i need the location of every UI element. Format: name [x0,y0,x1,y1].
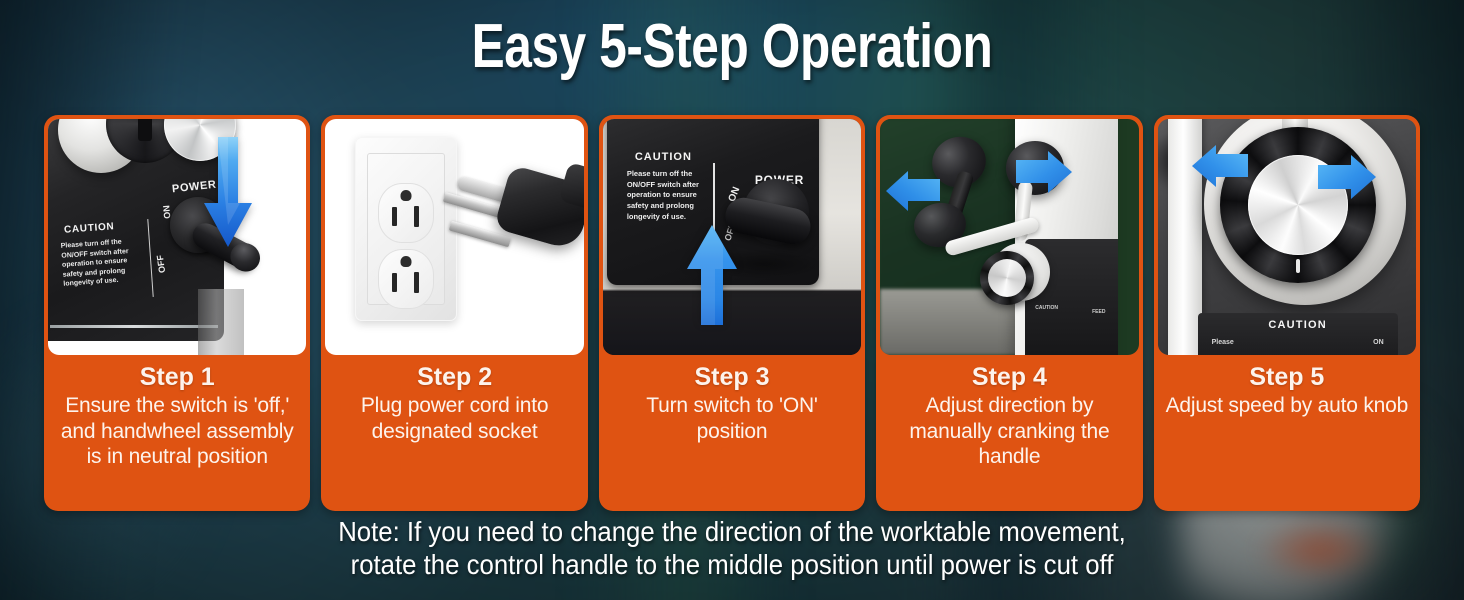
step-card-2[interactable]: Step 2 Plug power cord into designated s… [321,115,587,511]
machine-post [198,289,244,355]
step-card-4[interactable]: CAUTION FEED [876,115,1142,511]
outlet-slot-left [392,207,397,226]
step-5-description: Adjust speed by auto knob [1164,393,1410,419]
ground-hole-icon [401,190,412,201]
caution-heading: CAUTION [1268,319,1327,331]
footer-note-line-2: rotate the control handle to the middle … [59,549,1406,582]
down-arrow-icon [202,137,254,249]
outlet-slot-right [414,206,419,227]
outlet-faceplate [355,137,457,321]
step-2-title: Step 2 [331,363,577,391]
feed-label: FEED [1092,309,1105,315]
caution-body: Please turn off the ON/OFF switch after … [627,169,709,222]
right-arrow-icon [1016,151,1072,193]
footer-note-line-1: Note: If you need to change the directio… [59,516,1406,549]
step-1-description: Ensure the switch is 'off,' and handwhee… [54,393,300,470]
step-2-text: Step 2 Plug power cord into designated s… [325,355,583,511]
right-arrow-icon [1318,155,1376,199]
step-3-photo: CAUTION Please turn off the ON/OFF switc… [603,119,861,355]
step-3-description: Turn switch to 'ON' position [609,393,855,444]
caution-heading: CAUTION [635,151,692,163]
step-2-photo [325,119,583,355]
left-arrow-icon [1192,145,1248,187]
step-4-title: Step 4 [886,363,1132,391]
outlet-slot-right [414,272,419,293]
step-3-title: Step 3 [609,363,855,391]
ground-hole-icon [401,256,412,267]
steps-row: CAUTION Please turn off the ON/OFF switc… [44,115,1420,511]
feed-knob-face [988,259,1026,297]
step-5-title: Step 5 [1164,363,1410,391]
outlet-slot-left [392,273,397,292]
page-title: Easy 5-Step Operation [146,16,1317,78]
step-4-photo: CAUTION FEED [880,119,1138,355]
caution-body-right: ON [1373,339,1384,346]
caution-body-left: Please [1212,339,1234,346]
caution-heading: CAUTION [1035,305,1075,312]
step-card-1[interactable]: CAUTION Please turn off the ON/OFF switc… [44,115,310,511]
outlet-receptacle-top [378,183,434,243]
caution-plate: CAUTION Please ON [1198,313,1398,355]
step-1-text: Step 1 Ensure the switch is 'off,' and h… [48,355,306,511]
step-3-text: Step 3 Turn switch to 'ON' position [603,355,861,511]
step-card-5[interactable]: CAUTION Please ON [1154,115,1420,511]
step-5-text: Step 5 Adjust speed by auto knob [1158,355,1416,511]
step-5-photo: CAUTION Please ON [1158,119,1416,355]
knob-indicator-tick [1296,259,1300,273]
step-4-text: Step 4 Adjust direction by manually cran… [880,355,1138,511]
up-arrow-icon [685,225,739,327]
left-arrow-icon [886,171,940,211]
step-2-description: Plug power cord into designated socket [331,393,577,444]
outlet-inner-plate [367,153,445,305]
outlet-receptacle-bottom [378,249,434,309]
step-1-photo: CAUTION Please turn off the ON/OFF switc… [48,119,306,355]
step-card-3[interactable]: CAUTION Please turn off the ON/OFF switc… [599,115,865,511]
footer-note: Note: If you need to change the directio… [59,516,1406,582]
step-1-title: Step 1 [54,363,300,391]
caution-body: Please turn off the ON/OFF switch after … [60,236,143,289]
step-4-description: Adjust direction by manually cranking th… [886,393,1132,470]
